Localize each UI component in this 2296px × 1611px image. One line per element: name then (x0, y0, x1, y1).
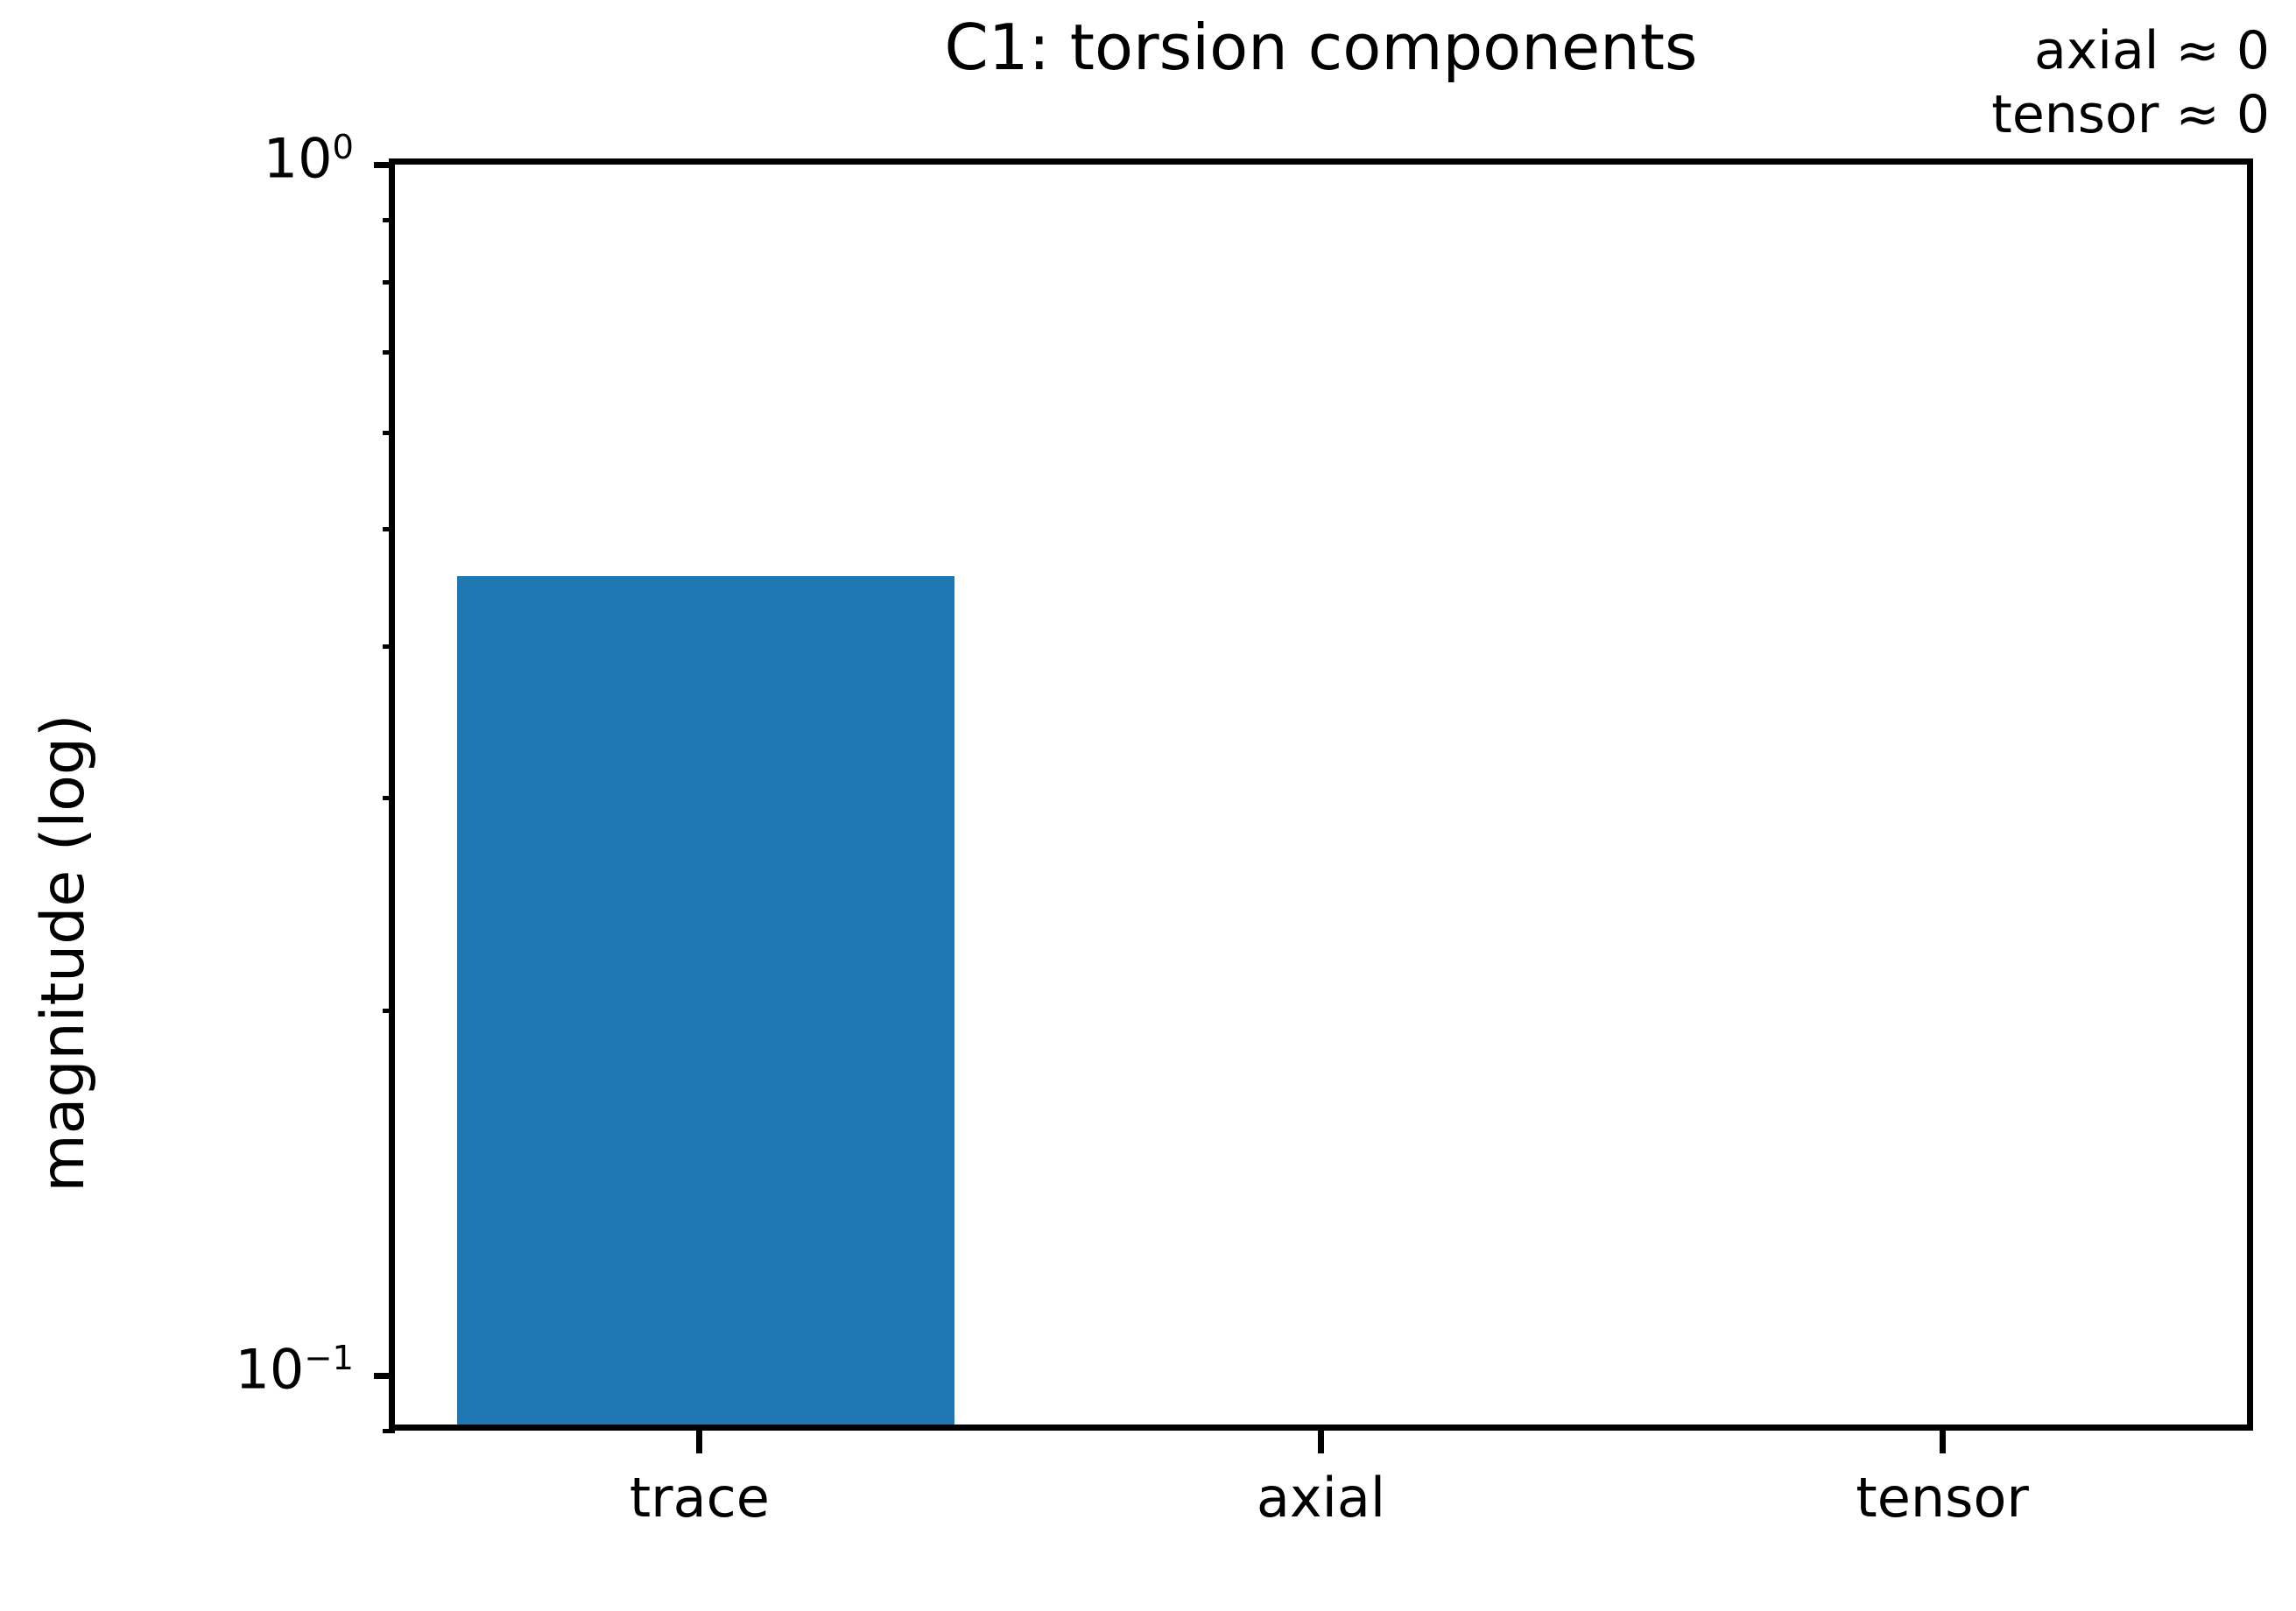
y-tick-minor (383, 527, 395, 531)
annotation-line-tensor: tensor ≈ 0 (1991, 83, 2270, 147)
y-axis-label: magnitude (log) (21, 317, 105, 1589)
chart-title: C1: torsion components (389, 16, 2253, 79)
y-tick-major (374, 1373, 395, 1379)
y-tick-minor (383, 644, 395, 649)
y-tick-minor (383, 1009, 395, 1013)
plot-axes (389, 158, 2253, 1431)
y-tick-minor (383, 350, 395, 355)
x-tick-label-axial: axial (1257, 1466, 1385, 1530)
figure-canvas: C1: torsion components 10010−1 traceaxia… (0, 0, 2296, 1611)
y-tick-minor (383, 796, 395, 800)
x-axis: traceaxialtensor (389, 1431, 2253, 1606)
y-tick-minor (383, 280, 395, 285)
y-tick-major (374, 162, 395, 168)
bar-trace[interactable] (457, 576, 954, 1425)
x-tick-label-trace: trace (630, 1466, 770, 1530)
annotation-text: axial ≈ 0 tensor ≈ 0 (1991, 19, 2270, 147)
annotation-line-axial: axial ≈ 0 (1991, 19, 2270, 83)
x-tick-tensor (1940, 1431, 1946, 1453)
x-tick-trace (696, 1431, 702, 1453)
y-tick-label: 100 (0, 127, 354, 191)
x-tick-label-tensor: tensor (1856, 1466, 2028, 1530)
y-tick-minor (383, 431, 395, 435)
x-tick-axial (1318, 1431, 1324, 1453)
plot-area (395, 165, 2247, 1425)
y-tick-minor (383, 218, 395, 222)
